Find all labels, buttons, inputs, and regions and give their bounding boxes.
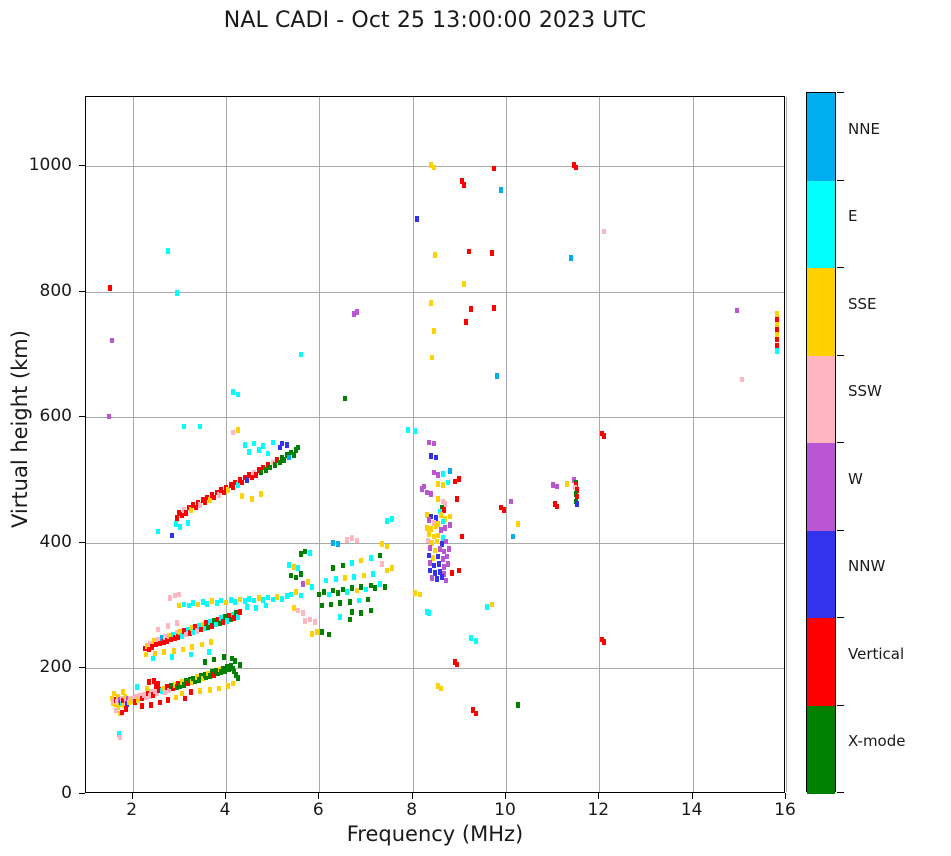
colorbar-label-w: W [848,470,863,488]
echo-point [437,561,441,567]
echo-point [240,480,244,486]
echo-point [287,455,291,461]
echo-point [432,470,436,476]
echo-point [441,482,445,488]
echo-point [329,602,333,608]
echo-point [170,533,174,539]
echo-point [303,549,307,555]
echo-point [191,600,195,606]
echo-point [331,588,335,594]
x-tick-label: 8 [406,800,417,820]
colorbar-label-x-mode: X-mode [848,732,905,750]
echo-point [114,708,118,714]
echo-point [156,627,160,633]
colorbar-band-nne [807,93,835,181]
echo-point [425,525,429,531]
echo-point [444,539,448,545]
echo-point [448,514,452,520]
x-tick [318,793,319,799]
echo-point [280,596,284,602]
echo-point [254,472,258,478]
echo-point [455,662,459,668]
x-tick [785,793,786,799]
echo-point [336,590,340,596]
echo-point [413,590,417,596]
echo-point [178,524,182,530]
echo-point [215,600,219,606]
echo-point [430,355,434,361]
x-tick-label: 12 [587,800,609,820]
echo-point [378,581,382,587]
echo-point [436,554,440,560]
echo-point [247,449,251,455]
echo-point [775,348,779,354]
echo-point [254,605,258,611]
echo-point [460,534,464,540]
echo-point [135,684,139,690]
echo-point [292,452,296,458]
echo-point [448,522,452,528]
echo-point [420,486,424,492]
echo-point [462,281,466,287]
echo-point [229,597,233,603]
echo-point [427,553,431,559]
echo-point [196,602,200,608]
echo-scatter-layer [86,97,784,792]
echo-point [444,578,448,584]
echo-point [362,573,366,579]
echo-point [345,537,349,543]
echo-point [299,551,303,557]
echo-point [287,562,291,568]
echo-point [259,470,263,476]
echo-point [427,531,431,537]
echo-point [166,623,170,629]
echo-point [413,428,417,434]
colorbar-tick [837,530,844,531]
echo-point [252,441,256,447]
x-tick-label: 14 [681,800,703,820]
echo-point [156,529,160,535]
echo-point [317,592,321,598]
echo-point [151,656,155,662]
echo-point [467,249,471,255]
echo-point [124,706,128,712]
x-tick-label: 10 [494,800,516,820]
echo-point [385,518,389,524]
echo-point [442,507,446,513]
echo-point [217,492,221,498]
echo-point [364,587,368,593]
echo-point [245,604,249,610]
echo-point [299,593,303,599]
colorbar-band-vertical [807,618,835,706]
echo-point [238,662,242,668]
echo-point [292,564,296,570]
echo-point [428,560,432,566]
echo-point [341,563,345,569]
echo-point [201,599,205,605]
echo-point [429,453,433,459]
echo-point [268,465,272,471]
echo-point [203,500,207,506]
echo-point [350,560,354,566]
echo-point [345,589,349,595]
echo-point [359,584,363,590]
echo-point [282,457,286,463]
echo-point [428,568,432,574]
echo-point [341,587,345,593]
echo-point [380,561,384,567]
echo-point [385,568,389,574]
echo-point [200,642,204,648]
echo-point [310,631,314,637]
echo-point [418,592,422,598]
x-tick [692,793,693,799]
echo-point [446,561,450,567]
echo-point [294,589,298,595]
y-tick [79,793,85,794]
echo-point [371,571,375,577]
echo-point [257,595,261,601]
colorbar-tick [837,355,844,356]
echo-point [442,564,446,570]
echo-point [378,553,382,559]
figure-title: NAL CADI - Oct 25 13:00:00 2023 UTC [0,8,870,33]
echo-point [189,652,193,658]
echo-point [443,501,447,507]
echo-point [350,585,354,591]
echo-point [446,480,450,486]
echo-point [190,644,194,650]
x-tick [598,793,599,799]
echo-point [296,608,300,614]
echo-point [324,578,328,584]
echo-point [162,649,166,655]
echo-point [261,443,265,449]
echo-point [331,540,335,546]
echo-point [166,697,170,703]
echo-point [338,614,342,620]
x-tick-label: 4 [220,800,231,820]
echo-point [450,570,454,576]
echo-point [455,496,459,502]
echo-point [306,579,310,585]
echo-point [427,517,431,523]
echo-point [426,538,430,544]
echo-point [271,440,275,446]
echo-point [236,427,240,433]
echo-point [299,571,303,577]
echo-point [436,472,440,478]
echo-point [555,504,559,510]
echo-point [285,442,289,448]
echo-point [490,602,494,608]
x-tick [225,793,226,799]
echo-point [441,556,445,562]
echo-point [183,696,187,702]
echo-point [429,491,433,497]
echo-point [184,510,188,516]
x-tick-label: 6 [313,800,324,820]
echo-point [203,659,207,665]
echo-point [433,252,437,258]
echo-point [182,424,186,430]
echo-point [273,462,277,468]
x-tick-label: 2 [126,800,137,820]
echo-point [350,535,354,541]
colorbar-tick [837,617,844,618]
echo-point [516,702,520,708]
echo-point [602,639,606,645]
colorbar-band-e [807,181,835,269]
echo-point [434,524,438,530]
echo-point [240,493,244,499]
echo-point [275,594,279,600]
echo-point [436,533,440,539]
echo-point [108,285,112,291]
echo-point [322,589,326,595]
echo-point [474,711,478,717]
echo-point [177,592,181,598]
echo-point [432,563,436,569]
echo-point [208,497,212,503]
echo-point [233,599,237,605]
echo-point [336,541,340,547]
echo-point [231,681,235,687]
echo-point [121,689,125,695]
echo-point [187,603,191,609]
echo-point [107,414,111,420]
colorbar-tick [837,92,844,93]
echo-point [432,165,436,171]
echo-point [292,605,296,611]
echo-point [231,430,235,436]
echo-point [231,389,235,395]
echo-point [174,521,178,527]
colorbar-label-sse: SSE [848,295,877,313]
echo-point [462,182,466,188]
echo-point [156,681,160,687]
echo-point [369,583,373,589]
echo-point [348,617,352,623]
echo-point [440,574,444,580]
echo-point [233,658,237,664]
ionogram-figure: NAL CADI - Oct 25 13:00:00 2023 UTC 2468… [0,0,951,856]
colorbar-tick [837,442,844,443]
echo-point [502,507,506,513]
plot-area [85,96,785,793]
echo-point [516,521,520,527]
echo-point [369,555,373,561]
echo-point [350,609,354,615]
echo-point [369,608,373,614]
echo-point [775,337,779,343]
echo-point [383,584,387,590]
echo-point [432,441,436,447]
echo-point [373,585,377,591]
echo-point [355,588,359,594]
echo-point [224,600,228,606]
echo-point [343,396,347,402]
echo-point [448,468,452,474]
echo-point [208,687,212,693]
echo-point [120,710,124,716]
echo-point [433,548,437,554]
echo-point [385,544,389,550]
echo-point [338,600,342,606]
x-tick [132,793,133,799]
y-tick-label: 1000 [29,155,72,175]
echo-point [250,475,254,481]
echo-point [575,501,579,507]
echo-point [231,485,235,491]
colorbar-band-sse [807,268,835,356]
y-tick-label: 200 [40,657,72,677]
echo-point [415,216,419,222]
echo-point [499,187,503,193]
echo-point [436,496,440,502]
echo-point [359,558,363,564]
colorbar-tick [837,792,844,793]
echo-point [495,373,499,379]
echo-point [173,593,177,599]
echo-point [210,598,214,604]
echo-point [380,541,384,547]
echo-point [428,545,432,551]
colorbar-band-ssw [807,356,835,444]
colorbar-label-nnw: NNW [848,557,885,575]
echo-point [144,652,148,658]
echo-point [301,581,305,587]
echo-point [252,598,256,604]
echo-point [264,467,268,473]
echo-point [189,507,193,513]
colorbar [806,92,836,792]
echo-point [445,554,449,560]
y-tick [79,165,85,166]
echo-point [180,512,184,518]
echo-point [247,596,251,602]
echo-point [735,308,739,314]
echo-point [152,678,156,684]
echo-point [294,575,298,581]
echo-point [189,689,193,695]
echo-point [212,495,216,501]
echo-point [118,735,122,741]
echo-point [226,487,230,493]
echo-point [181,647,185,653]
echo-point [443,525,447,531]
echo-point [602,433,606,439]
echo-point [438,546,442,552]
echo-point [569,255,573,261]
echo-point [464,319,468,325]
echo-point [441,519,445,525]
echo-point [331,565,335,571]
y-tick [79,542,85,543]
echo-point [320,629,324,635]
echo-point [320,603,324,609]
echo-point [236,614,240,620]
echo-point [257,447,261,453]
echo-point [565,481,569,487]
echo-point [175,620,179,626]
echo-point [430,575,434,581]
echo-point [390,565,394,571]
echo-point [492,166,496,172]
echo-point [140,703,144,709]
echo-point [175,515,179,521]
echo-point [441,471,445,477]
echo-point [490,250,494,256]
echo-point [186,520,190,526]
echo-point [168,595,172,601]
echo-point [110,338,114,344]
echo-point [740,377,744,383]
echo-point [343,575,347,581]
echo-point [299,352,303,358]
echo-point [308,617,312,623]
echo-point [175,290,179,296]
echo-point [439,686,443,692]
y-tick-label: 0 [61,783,72,803]
echo-point [469,635,473,641]
echo-point [352,574,356,580]
echo-point [264,603,268,609]
y-tick [79,667,85,668]
echo-point [313,619,317,625]
echo-point [198,424,202,430]
echo-point [308,550,312,556]
echo-point [509,499,513,505]
echo-point [236,675,240,681]
echo-point [447,546,451,552]
colorbar-label-nne: NNE [848,120,880,138]
colorbar-tick [837,267,844,268]
echo-point [551,482,555,488]
echo-point [285,593,289,599]
echo-point [259,491,263,497]
echo-point [429,300,433,306]
echo-point [366,597,370,603]
y-tick [79,291,85,292]
echo-point [434,455,438,461]
echo-point [182,602,186,608]
colorbar-band-w [807,443,835,531]
echo-point [222,490,226,496]
x-tick-label: 16 [774,800,796,820]
echo-point [359,610,363,616]
echo-point [310,584,314,590]
y-axis-title: Virtual height (km) [8,79,32,779]
echo-point [212,657,216,663]
echo-point [289,592,293,598]
echo-point [245,477,249,483]
echo-point [436,481,440,487]
echo-point [327,592,331,598]
echo-point [357,598,361,604]
echo-point [469,306,473,312]
echo-point [177,603,181,609]
echo-point [427,440,431,446]
echo-point [236,482,240,488]
echo-point [303,618,307,624]
echo-point [238,609,242,615]
echo-point [266,595,270,601]
echo-point [278,460,282,466]
echo-point [174,695,178,701]
